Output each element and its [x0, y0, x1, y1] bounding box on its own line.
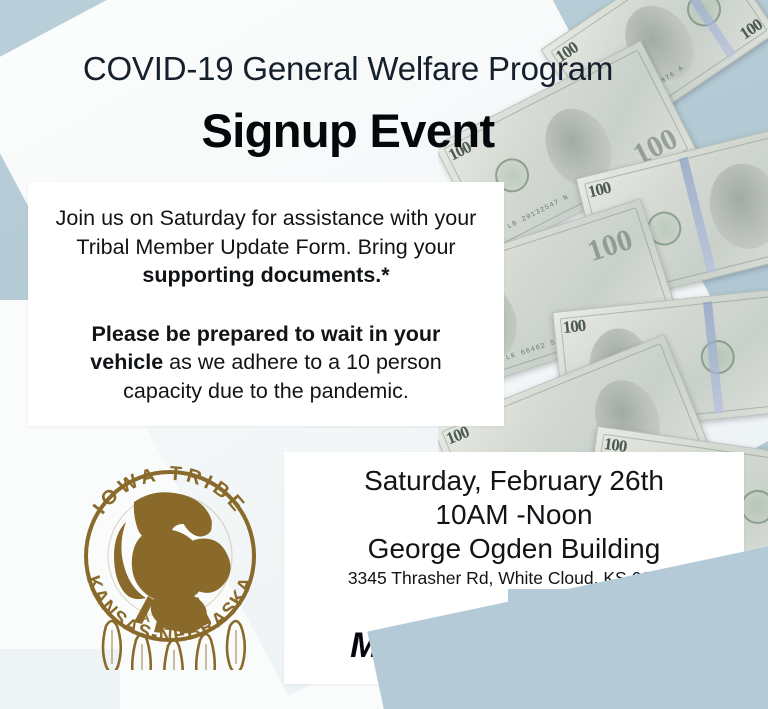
event-venue: George Ogden Building	[368, 532, 661, 566]
info-paragraph-1: Join us on Saturday for assistance with …	[54, 204, 478, 290]
info-text-2b: as we adhere to a 10 person capacity due…	[123, 350, 442, 403]
info-card: Join us on Saturday for assistance with …	[28, 182, 504, 426]
event-time: 10AM -Noon	[435, 498, 592, 532]
info-paragraph-2: Please be prepared to wait in your vehic…	[54, 320, 478, 406]
iowa-tribe-seal: IOWA TRIBE KANSAS-NEBRASKA A G C	[62, 444, 278, 670]
event-date: Saturday, February 26th	[364, 464, 664, 498]
info-text-1a: Join us on Saturday for assistance with …	[56, 206, 477, 259]
page-subtitle: Signup Event	[0, 103, 768, 158]
background-bottom-right-block	[508, 589, 768, 709]
page-title: COVID-19 General Welfare Program	[0, 50, 768, 88]
info-text-1b: supporting documents.*	[142, 263, 389, 287]
bill-denomination: 100	[562, 316, 586, 338]
bill-denomination: 100	[586, 178, 613, 203]
svg-text:C: C	[184, 615, 194, 631]
bill-denomination: 100	[443, 422, 471, 449]
svg-text:A: A	[140, 609, 150, 625]
bill-denomination: 100	[736, 15, 766, 44]
flyer-poster: 100 100 PB 64563876 A 100 100 LB 2913254…	[0, 0, 768, 709]
svg-text:G: G	[162, 617, 173, 633]
